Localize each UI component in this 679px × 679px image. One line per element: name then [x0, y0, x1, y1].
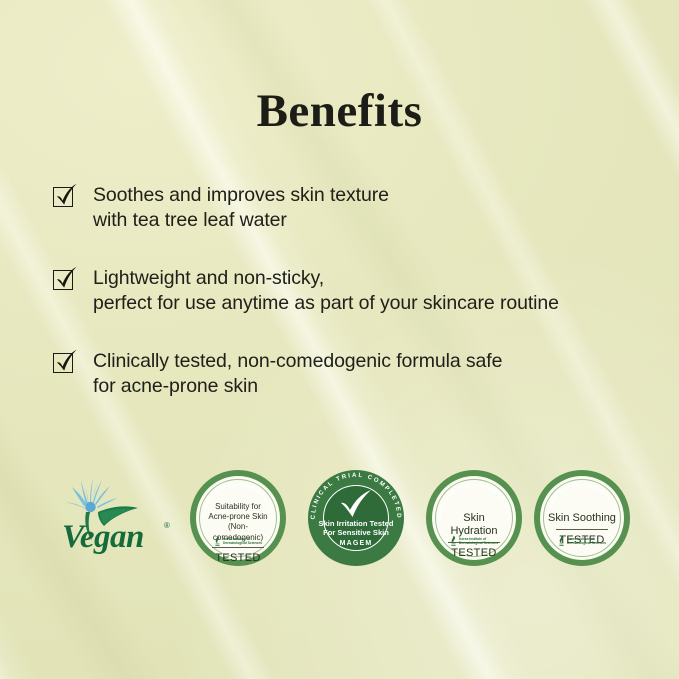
institute-emblem-icon	[214, 535, 221, 547]
badge-title: Skin Irritation Tested For Sensitive Ski…	[318, 519, 394, 538]
institute-emblem-icon	[450, 535, 457, 547]
check-mark-icon	[339, 490, 373, 518]
badge-acne-prone: Korea Institute of Dermatological Scienc…	[190, 470, 286, 566]
badge-status: TESTED	[203, 552, 273, 564]
institute-mark: Korea Institute of Dermatological Scienc…	[196, 535, 280, 547]
institute-mark-label: Korea Institute of Dermatological Scienc…	[459, 537, 498, 546]
product-benefits-panel: Benefits Soothes and improves skin textu…	[0, 0, 679, 679]
checkbox-checked-icon	[53, 187, 75, 209]
badge-skin-irritation: CLINICAL TRIAL COMPLETED Skin Irritation…	[308, 470, 404, 566]
institute-mark-label: Korea Institute of Dermatological Scienc…	[567, 537, 606, 546]
checkbox-checked-icon	[53, 353, 75, 375]
badge-brand-label: MAGEM	[310, 540, 402, 547]
badge-divider	[556, 529, 608, 530]
list-item: Soothes and improves skin texture with t…	[53, 183, 649, 233]
list-item: Lightweight and non-sticky, perfect for …	[53, 266, 649, 316]
institute-emblem-icon	[558, 535, 565, 547]
list-item: Clinically tested, non-comedogenic formu…	[53, 349, 649, 399]
list-item-label: Lightweight and non-sticky, perfect for …	[93, 266, 559, 316]
registered-trademark-icon: ®	[164, 521, 170, 530]
badge-status: TESTED	[439, 547, 509, 559]
list-item-label: Clinically tested, non-comedogenic formu…	[93, 349, 502, 399]
institute-mark: Korea Institute of Dermatological Scienc…	[540, 535, 624, 547]
badge-skin-soothing: Korea Institute of Dermatological Scienc…	[534, 470, 630, 566]
badge-title: Skin Soothing	[547, 512, 617, 525]
vegan-logo: Vegan ®	[56, 472, 176, 564]
badge-skin-hydration: Korea Institute of Dermatological Scienc…	[426, 470, 522, 566]
page-title: Benefits	[0, 84, 679, 138]
institute-mark: Korea Institute of Dermatological Scienc…	[432, 535, 516, 547]
certification-badge-strip: Vegan ® Korea Institute of Dermatologica…	[0, 466, 679, 578]
list-item-label: Soothes and improves skin texture with t…	[93, 183, 389, 233]
institute-mark-label: Korea Institute of Dermatological Scienc…	[223, 537, 262, 546]
vegan-logo-text: Vegan	[62, 519, 144, 556]
checkbox-checked-icon	[53, 270, 75, 292]
benefits-list: Soothes and improves skin texture with t…	[53, 183, 649, 432]
